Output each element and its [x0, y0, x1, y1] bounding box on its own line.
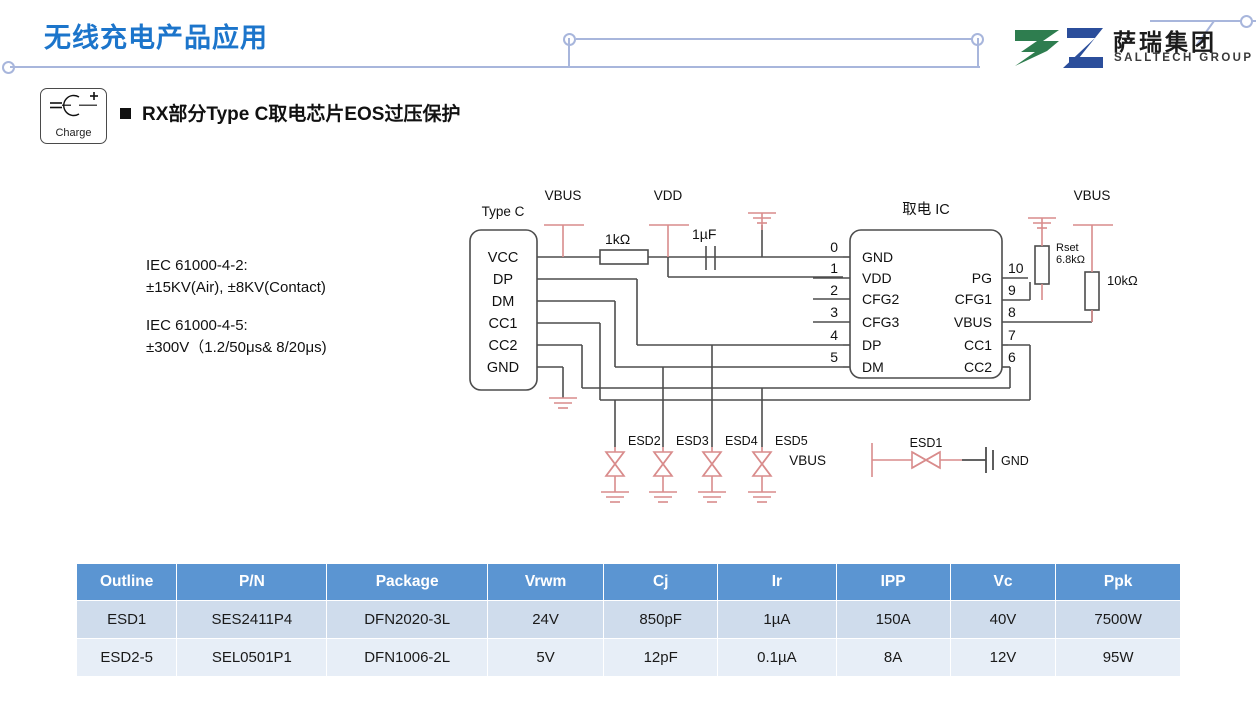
esd-diode-group	[601, 345, 776, 502]
col-pn: P/N	[177, 564, 327, 601]
ic-pinnum-2: 2	[830, 282, 838, 298]
ic-pin-pg: PG	[972, 270, 992, 286]
col-ppk: Ppk	[1056, 564, 1181, 601]
label-esd1-vbus: VBUS	[789, 453, 826, 468]
esd-spec-table: Outline P/N Package Vrwm Cj Ir IPP Vc Pp…	[76, 563, 1181, 677]
ic-pin-vbus: VBUS	[954, 314, 992, 330]
ic-pin-cc2: CC2	[964, 359, 992, 375]
label-resistor-10k: 10kΩ	[1107, 273, 1138, 288]
cell-ir: 0.1µA	[718, 639, 836, 677]
cell-outline: ESD1	[77, 601, 177, 639]
col-ipp: IPP	[836, 564, 950, 601]
label-esd1: ESD1	[910, 436, 943, 450]
label-capacitor-1uf: 1µF	[692, 226, 716, 242]
cell-vrwm: 5V	[487, 639, 603, 677]
cell-package: DFN2020-3L	[327, 601, 488, 639]
cell-vrwm: 24V	[487, 601, 603, 639]
label-rset-value: 6.8kΩ	[1056, 254, 1085, 266]
col-cj: Cj	[604, 564, 718, 601]
cell-ipp: 150A	[836, 601, 950, 639]
label-esd3: ESD3	[676, 434, 709, 448]
ic-pin-dm: DM	[862, 359, 884, 375]
label-vbus-right: VBUS	[1074, 188, 1111, 203]
pin-dp: DP	[493, 272, 513, 288]
resistor-rset-6k8	[1035, 246, 1049, 284]
ic-pinnum-1: 1	[830, 260, 838, 276]
label-esd1-gnd: GND	[1001, 454, 1029, 468]
ic-pin-cfg3: CFG3	[862, 314, 900, 330]
pin-cc2: CC2	[488, 338, 517, 354]
col-vrwm: Vrwm	[487, 564, 603, 601]
cell-ppk: 7500W	[1056, 601, 1181, 639]
cell-vc: 12V	[950, 639, 1056, 677]
label-esd4: ESD4	[725, 434, 758, 448]
label-resistor-1k: 1kΩ	[605, 231, 630, 247]
pin-cc1: CC1	[488, 316, 517, 332]
ic-pinnum-7: 7	[1008, 327, 1016, 343]
col-package: Package	[327, 564, 488, 601]
ic-pinnum-10: 10	[1008, 260, 1024, 276]
ic-pinnum-4: 4	[830, 327, 838, 343]
cell-ppk: 95W	[1056, 639, 1181, 677]
ic-pinnum-8: 8	[1008, 304, 1016, 320]
table-header-row: Outline P/N Package Vrwm Cj Ir IPP Vc Pp…	[77, 564, 1181, 601]
table-row: ESD2-5 SEL0501P1 DFN1006-2L 5V 12pF 0.1µ…	[77, 639, 1181, 677]
label-ic-title: 取电 IC	[902, 201, 950, 218]
pin-gnd: GND	[487, 360, 519, 376]
label-rset-name: Rset	[1056, 242, 1079, 254]
ic-pin-vdd: VDD	[862, 270, 892, 286]
col-ir: Ir	[718, 564, 836, 601]
ic-pin-cfg2: CFG2	[862, 291, 900, 307]
ic-pin-dp: DP	[862, 337, 881, 353]
pin-dm: DM	[492, 294, 515, 310]
ic-pin-cc1: CC1	[964, 337, 992, 353]
label-vdd: VDD	[654, 188, 683, 203]
ic-pin-cfg1: CFG1	[955, 291, 993, 307]
label-vbus-left: VBUS	[545, 188, 582, 203]
col-vc: Vc	[950, 564, 1056, 601]
pin-vcc: VCC	[488, 250, 519, 266]
label-type-c: Type C	[482, 204, 525, 219]
resistor-10k	[1085, 272, 1099, 310]
ic-pinnum-0: 0	[830, 239, 838, 255]
circuit-schematic: Type C VCC DP DM CC1 CC2 GND VBUS VDD VB…	[0, 0, 1257, 540]
cell-vc: 40V	[950, 601, 1056, 639]
cell-ipp: 8A	[836, 639, 950, 677]
table-row: ESD1 SES2411P4 DFN2020-3L 24V 850pF 1µA …	[77, 601, 1181, 639]
ic-pin-gnd: GND	[862, 249, 893, 265]
resistor-1k	[600, 250, 648, 264]
ic-pinnum-5: 5	[830, 349, 838, 365]
label-esd5: ESD5	[775, 434, 808, 448]
cell-cj: 12pF	[604, 639, 718, 677]
cell-outline: ESD2-5	[77, 639, 177, 677]
ic-pinnum-6: 6	[1008, 349, 1016, 365]
ic-pinnum-3: 3	[830, 304, 838, 320]
cell-cj: 850pF	[604, 601, 718, 639]
ic-pinnum-9: 9	[1008, 282, 1016, 298]
label-esd2: ESD2	[628, 434, 661, 448]
cell-package: DFN1006-2L	[327, 639, 488, 677]
cell-pn: SEL0501P1	[177, 639, 327, 677]
col-outline: Outline	[77, 564, 177, 601]
cell-pn: SES2411P4	[177, 601, 327, 639]
cell-ir: 1µA	[718, 601, 836, 639]
